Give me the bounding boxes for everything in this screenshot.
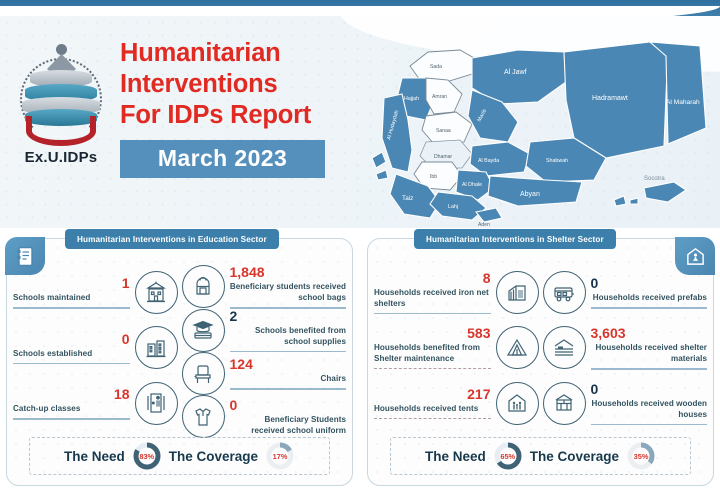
stat-iron-net-shelters: 8 Households received iron net shelters	[374, 265, 539, 320]
map-label-amran: Amran	[432, 94, 447, 100]
need-percent: 83%	[132, 441, 162, 471]
coverage-percent: 17%	[265, 441, 295, 471]
stat-value: 217	[374, 387, 491, 402]
panel-shelter-title: Humanitarian Interventions in Shelter Se…	[414, 229, 616, 249]
stat-school-supplies: 2 Schools benefited from school supplies	[182, 309, 347, 353]
shelter-need-coverage-bar: The Need 65% The Coverage 35%	[390, 437, 691, 475]
map-label-lahj: Lahj	[448, 204, 458, 210]
panel-education-sector: Humanitarian Interventions in Education …	[6, 238, 353, 486]
need-donut: 65%	[493, 441, 523, 471]
stat-label: Schools maintained	[13, 292, 130, 303]
report-title-line-2: Interventions	[120, 69, 370, 100]
stat-divider	[374, 418, 491, 419]
stat-value: 2	[230, 309, 347, 324]
shelter-stats-grid: 8 Households received iron net shelters …	[374, 265, 707, 431]
stat-school-uniform: 0 Beneficiary Students received school u…	[182, 395, 347, 438]
family-house-icon	[496, 382, 539, 425]
map-label-ibb: Ibb	[430, 174, 437, 180]
stat-value: 0	[230, 398, 347, 413]
bottom-strip	[0, 486, 720, 492]
stat-school-bags: 1,848 Beneficiary students received scho…	[182, 265, 347, 309]
shelter-right-column: 0 Households received prefabs 3,603	[541, 265, 708, 431]
map-label-al-maharah: Al Maharah	[666, 99, 700, 106]
stat-divider	[13, 363, 130, 365]
stat-prefabs: 0 Households received prefabs	[543, 265, 708, 320]
school-uniform-icon	[182, 395, 225, 438]
stat-label: Catch-up classes	[13, 403, 130, 414]
panel-education-title: Humanitarian Interventions in Education …	[65, 229, 279, 249]
stat-catch-up-classes: 18 Catch-up classes	[13, 376, 178, 431]
stat-label: Households received wooden houses	[591, 398, 708, 420]
map-label-taiz: Taiz	[402, 195, 413, 202]
classroom-door-icon	[135, 382, 178, 425]
report-title-line-3: For IDPs Report	[120, 100, 370, 131]
report-header: Ex.U.IDPs Humanitarian Interventions For…	[0, 16, 720, 228]
stat-label: Households received iron net shelters	[374, 287, 491, 309]
stat-divider	[591, 307, 708, 309]
map-label-al-jawf: Al Jawf	[504, 69, 527, 76]
chair-icon	[182, 352, 225, 395]
need-label: The Need	[64, 449, 125, 464]
coverage-donut: 17%	[265, 441, 295, 471]
map-label-hajjah: Hajjah	[404, 96, 419, 102]
stat-value: 583	[374, 326, 491, 341]
need-percent: 65%	[493, 441, 523, 471]
report-date-badge: March 2023	[120, 140, 325, 178]
stat-shelter-materials: 3,603 Households received shelter materi…	[543, 320, 708, 375]
map-label-shabwah: Shabwah	[546, 158, 568, 164]
coverage-label: The Coverage	[530, 449, 619, 464]
coverage-percent: 35%	[626, 441, 656, 471]
education-need-coverage-bar: The Need 83% The Coverage 17%	[29, 437, 330, 475]
stat-label: Beneficiary Students received school uni…	[230, 414, 347, 436]
tent-icon	[496, 326, 539, 369]
idp-logo-icon	[14, 36, 108, 148]
logo-cradle-shape	[26, 116, 96, 146]
coverage-label: The Coverage	[169, 449, 258, 464]
prefab-caravan-icon	[543, 271, 586, 314]
school-building-icon	[135, 271, 178, 314]
school-building-alt-icon	[135, 326, 178, 369]
stat-tents: 217 Households received tents	[374, 376, 539, 431]
education-stats-grid: 1 Schools maintained 0 Schools est	[13, 265, 346, 431]
map-label-al-bayda: Al Bayda	[478, 158, 499, 164]
stat-label: Schools established	[13, 348, 130, 359]
stat-value: 1,848	[230, 265, 347, 280]
school-bag-icon	[182, 265, 225, 308]
report-title-block: Humanitarian Interventions For IDPs Repo…	[120, 38, 370, 178]
school-supplies-icon	[182, 309, 225, 352]
stat-value: 124	[230, 357, 347, 372]
map-label-abyan: Abyan	[520, 191, 540, 198]
need-label: The Need	[425, 449, 486, 464]
report-title-line-1: Humanitarian	[120, 38, 370, 69]
stat-schools-maintained: 1 Schools maintained	[13, 265, 178, 320]
shelter-materials-icon	[543, 326, 586, 369]
stat-shelter-maintenance: 583 Households benefited from Shelter ma…	[374, 320, 539, 375]
stat-label: Households received tents	[374, 403, 491, 414]
stat-chairs: 124 Chairs	[182, 352, 347, 395]
stat-divider	[230, 388, 347, 390]
education-right-column: 1,848 Beneficiary students received scho…	[180, 265, 347, 431]
stat-divider	[13, 307, 130, 309]
stat-divider	[230, 351, 347, 353]
map-label-al-dhale: Al Dhale	[462, 182, 482, 188]
stat-label: Schools benefited from school supplies	[230, 325, 347, 347]
logo-caption: Ex.U.IDPs	[12, 149, 110, 166]
stat-schools-established: 0 Schools established	[13, 320, 178, 375]
map-label-aden: Aden	[478, 222, 490, 228]
stat-divider	[230, 307, 347, 309]
stat-value: 8	[374, 271, 491, 286]
stat-divider	[591, 424, 708, 426]
stat-label: Households benefited from Shelter mainte…	[374, 342, 491, 364]
map-label-socotra: Socotra	[644, 176, 665, 182]
map-label-dhamar: Dhamar	[434, 154, 452, 160]
map-label-sanaa: Sanaa	[436, 128, 451, 134]
map-label-sada: Sada	[430, 64, 442, 70]
stat-value: 0	[591, 382, 708, 397]
stat-value: 1	[13, 276, 130, 291]
stat-divider	[591, 368, 708, 370]
panel-shelter-sector: Humanitarian Interventions in Shelter Se…	[367, 238, 714, 486]
coverage-donut: 35%	[626, 441, 656, 471]
organization-logo: Ex.U.IDPs	[12, 36, 110, 166]
shelter-left-column: 8 Households received iron net shelters …	[374, 265, 541, 431]
education-left-column: 1 Schools maintained 0 Schools est	[13, 265, 180, 431]
wooden-house-icon	[543, 382, 586, 425]
stat-value: 3,603	[591, 326, 708, 341]
stat-value: 18	[13, 387, 130, 402]
stat-value: 0	[13, 332, 130, 347]
iron-net-shelter-icon	[496, 271, 539, 314]
stat-divider	[374, 313, 491, 315]
yemen-governorates-map: Sada Al Jawf Hadramawt Al Maharah Hajjah…	[368, 16, 720, 228]
logo-person-head	[56, 44, 67, 55]
stat-label: Chairs	[230, 373, 347, 384]
need-donut: 83%	[132, 441, 162, 471]
stat-divider	[374, 368, 491, 369]
stat-divider	[13, 418, 130, 420]
stat-wooden-houses: 0 Households received wooden houses	[543, 376, 708, 431]
map-label-hadramawt: Hadramawt	[592, 95, 628, 102]
stat-label: Households received shelter materials	[591, 342, 708, 364]
stat-value: 0	[591, 276, 708, 291]
stat-label: Beneficiary students received school bag…	[230, 281, 347, 303]
stat-label: Households received prefabs	[591, 292, 708, 303]
